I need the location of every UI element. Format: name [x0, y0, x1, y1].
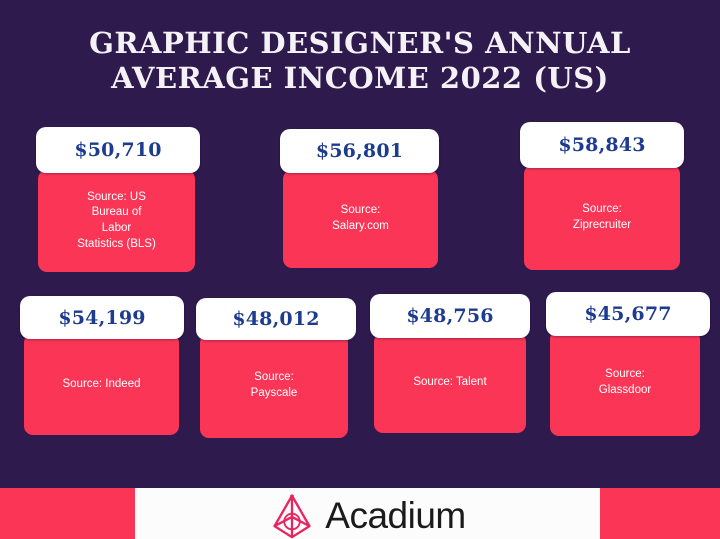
acadium-diamond-logo-icon [269, 493, 315, 539]
stat-card-source-ziprecruiter: Source: Ziprecruiter [532, 202, 672, 233]
stat-card-source-indeed: Source: Indeed [32, 377, 171, 393]
infographic-canvas: GRAPHIC DESIGNER'S ANNUAL AVERAGE INCOME… [0, 0, 720, 539]
stat-card-source-talent: Source: Talent [382, 375, 518, 391]
brand-name: Acadium [325, 497, 465, 534]
stat-card-source-payscale: Source: Payscale [208, 370, 340, 401]
stat-card-amount-ziprecruiter: $58,843 [520, 122, 684, 168]
stat-card-body-glassdoor: Source: Glassdoor [550, 330, 700, 436]
stat-card-body-talent: Source: Talent [374, 333, 526, 433]
page-title-line-1: GRAPHIC DESIGNER'S ANNUAL [0, 26, 720, 61]
stat-card-amount-glassdoor: $45,677 [546, 292, 710, 336]
stat-card-amount-indeed: $54,199 [20, 296, 184, 339]
stat-card-amount-salarycom: $56,801 [280, 129, 439, 173]
page-title: GRAPHIC DESIGNER'S ANNUAL AVERAGE INCOME… [0, 26, 720, 97]
stat-card-amount-payscale: $48,012 [196, 298, 356, 340]
stat-card-source-glassdoor: Source: Glassdoor [558, 367, 692, 398]
page-title-line-2: AVERAGE INCOME 2022 (US) [0, 61, 720, 96]
stat-card-amount-bls: $50,710 [36, 127, 200, 173]
stat-card-body-indeed: Source: Indeed [24, 334, 179, 435]
stat-card-source-salarycom: Source: Salary.com [291, 203, 430, 234]
stat-card-body-ziprecruiter: Source: Ziprecruiter [524, 165, 680, 270]
stat-card-body-payscale: Source: Payscale [200, 334, 348, 438]
stat-card-source-bls: Source: US Bureau of Labor Statistics (B… [46, 190, 187, 252]
stat-card-amount-talent: $48,756 [370, 294, 530, 338]
brand-plate: Acadium [135, 488, 600, 539]
stat-card-body-bls: Source: US Bureau of Labor Statistics (B… [38, 170, 195, 272]
footer-band: Acadium [0, 488, 720, 539]
stat-card-body-salarycom: Source: Salary.com [283, 170, 438, 268]
